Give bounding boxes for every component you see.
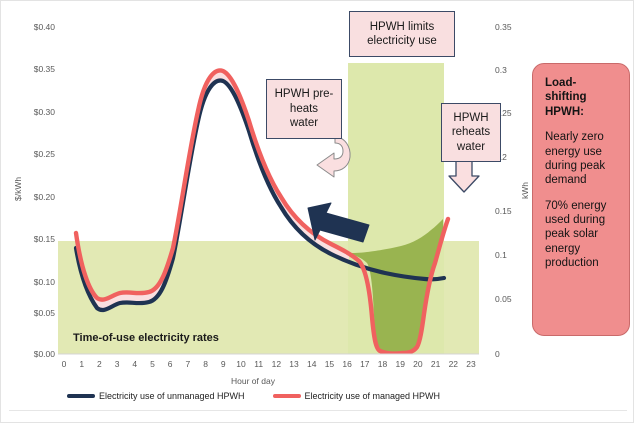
callout-hpwh-limits: HPWH limits electricity use — [349, 11, 455, 57]
side-panel-heading: Load- shifting HPWH: — [545, 76, 619, 119]
y-tick-left-1: $0.35 — [15, 65, 55, 74]
y-tick-left-7: $0.05 — [15, 309, 55, 318]
y-tick-left-0: $0.40 — [15, 23, 55, 32]
legend-item-1: Electricity use of managed HPWH — [273, 391, 441, 401]
side-panel-para-2: 70% energy used during peak solar energy… — [545, 199, 619, 271]
y-tick-right-7: 0.35 — [495, 23, 512, 32]
y-tick-right-0: 0 — [495, 350, 500, 359]
y-tick-left-2: $0.30 — [15, 108, 55, 117]
preheat-callout-arrow — [317, 137, 350, 177]
chart-legend: Electricity use of unmanaged HPWHElectri… — [1, 391, 506, 401]
y-tick-left-3: $0.25 — [15, 150, 55, 159]
legend-label-1: Electricity use of managed HPWH — [305, 391, 441, 401]
callout-hpwh-reheats-text: HPWH reheats water — [452, 111, 490, 154]
x-axis-title: Hour of day — [231, 376, 275, 386]
x-tick-23: 23 — [461, 360, 481, 369]
callout-hpwh-preheats-text: HPWH pre- heats water — [275, 87, 334, 130]
side-panel-para-1: Nearly zero energy use during peak deman… — [545, 130, 619, 188]
callout-hpwh-limits-text: HPWH limits electricity use — [367, 20, 437, 49]
y-tick-right-3: 0.15 — [495, 207, 512, 216]
legend-item-0: Electricity use of unmanaged HPWH — [67, 391, 245, 401]
callout-hpwh-preheats: HPWH pre- heats water — [266, 79, 342, 139]
y-axis-title-right: kWh — [520, 182, 530, 199]
reheat-callout-arrow — [449, 161, 479, 192]
legend-swatch-0 — [67, 394, 95, 398]
callout-hpwh-reheats: HPWH reheats water — [441, 103, 501, 162]
bottom-divider — [9, 410, 627, 411]
y-tick-right-1: 0.05 — [495, 295, 512, 304]
chart-figure: $0.40 $0.35 $0.30 $0.25 $0.20 $0.15 $0.1… — [0, 0, 634, 423]
y-tick-left-5: $0.15 — [15, 235, 55, 244]
legend-label-0: Electricity use of unmanaged HPWH — [99, 391, 245, 401]
y-tick-right-6: 0.3 — [495, 66, 507, 75]
y-tick-right-2: 0.1 — [495, 251, 507, 260]
y-axis-title-left: $/kWh — [13, 177, 23, 201]
legend-swatch-1 — [273, 394, 301, 398]
tou-rates-label: Time-of-use electricity rates — [73, 332, 219, 344]
load-shifting-summary-panel: Load- shifting HPWH: Nearly zero energy … — [532, 63, 630, 336]
y-tick-left-8: $0.00 — [15, 350, 55, 359]
y-tick-left-6: $0.10 — [15, 278, 55, 287]
